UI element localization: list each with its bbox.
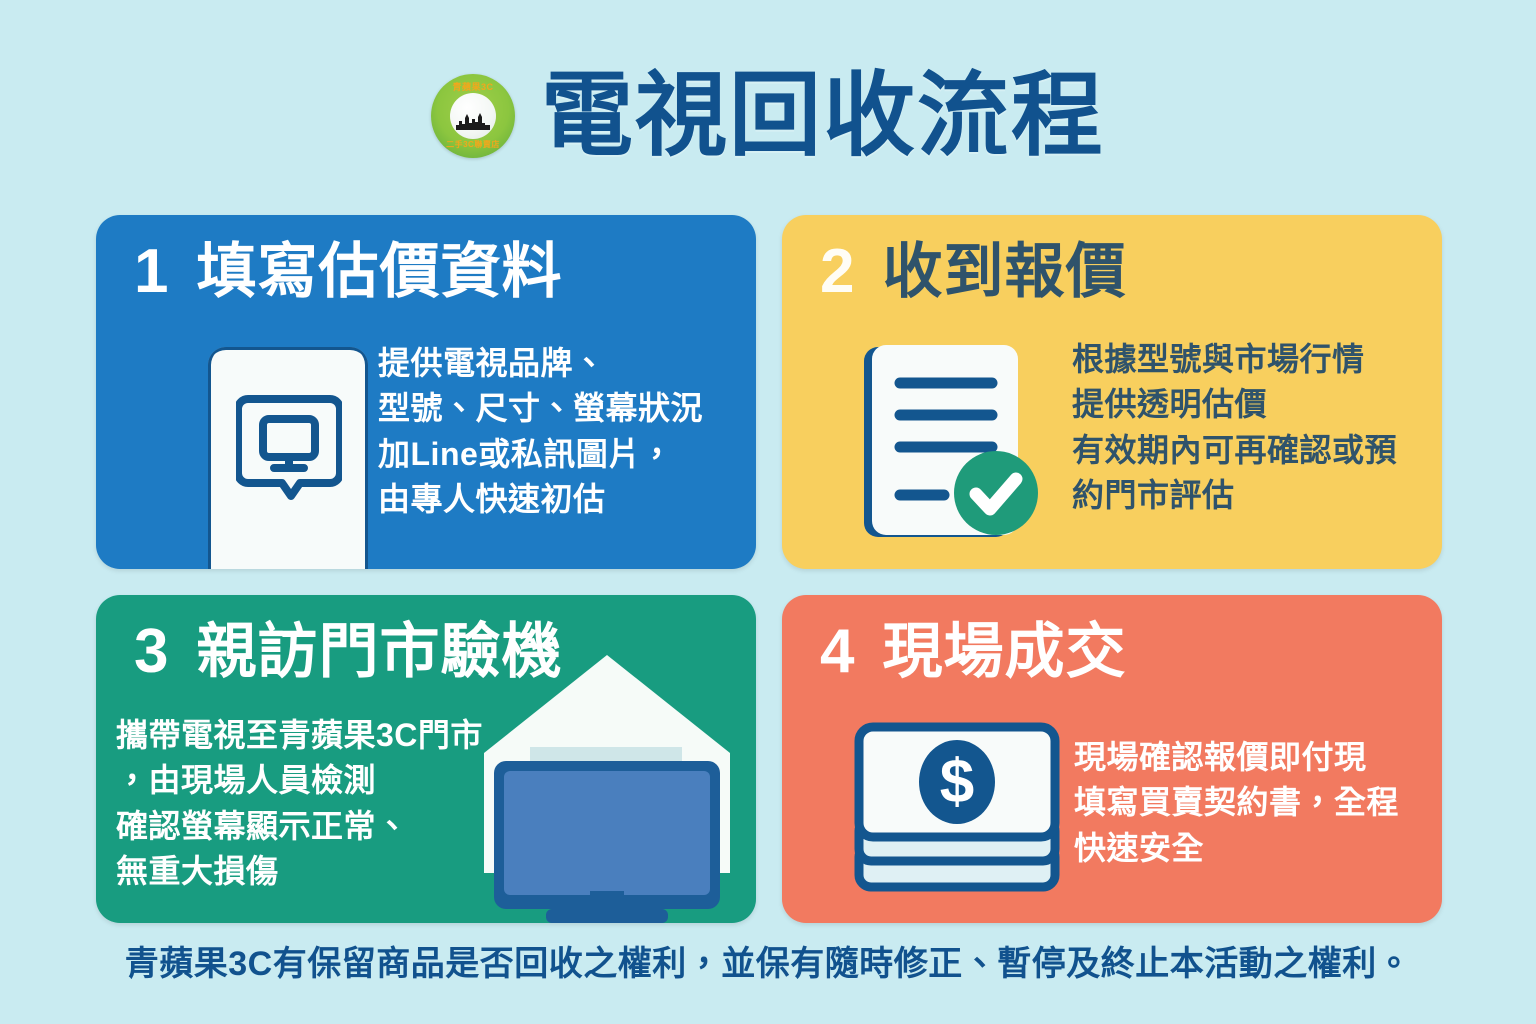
step-4-header: 4 現場成交 bbox=[820, 621, 1126, 683]
page-title: 電視回收流程 bbox=[541, 70, 1105, 162]
step-1-title: 填寫估價資料 bbox=[196, 242, 562, 302]
step-2-number: 2 bbox=[820, 241, 854, 303]
step-1-header: 1 填寫估價資料 bbox=[134, 241, 562, 303]
infographic-poster: 青蘋果3C 二手3C聯賣店 電視回收流程 1 填寫估價資料 bbox=[0, 0, 1536, 1024]
poster-header: 青蘋果3C 二手3C聯賣店 電視回收流程 bbox=[0, 52, 1536, 180]
steps-grid: 1 填寫估價資料 提供電視品牌、 型號、尺寸、螢幕狀況 加Line或私訊圖片， … bbox=[96, 215, 1442, 923]
document-check-glyph bbox=[862, 343, 1040, 543]
step-card-1: 1 填寫估價資料 提供電視品牌、 型號、尺寸、螢幕狀況 加Line或私訊圖片， … bbox=[96, 215, 756, 569]
step-3-title: 親訪門市驗機 bbox=[196, 622, 562, 682]
step-4-title: 現場成交 bbox=[882, 622, 1126, 682]
logo-globe-icon bbox=[450, 93, 496, 139]
step-2-header: 2 收到報價 bbox=[820, 241, 1126, 303]
cash-stack-glyph: $ bbox=[854, 721, 1060, 893]
step-1-body: 提供電視品牌、 型號、尺寸、螢幕狀況 加Line或私訊圖片， 由專人快速初估 bbox=[378, 341, 738, 523]
footer-disclaimer: 青蘋果3C有保留商品是否回收之權利，並保有隨時修正、暫停及終止本活動之權利。 bbox=[0, 944, 1536, 985]
step-card-3: 3 親訪門市驗機 攜帶電視至青蘋果3C門市 ，由現場人員檢測 確認螢幕顯示正常、… bbox=[96, 595, 756, 923]
cash-stack-dollar-icon: $ bbox=[854, 721, 1060, 893]
logo-ring-text-bottom: 二手3C聯賣店 bbox=[431, 141, 515, 149]
step-3-body: 攜帶電視至青蘋果3C門市 ，由現場人員檢測 確認螢幕顯示正常、 無重大損傷 bbox=[116, 713, 566, 895]
chat-bubble-tv-icon bbox=[208, 347, 368, 569]
logo-skyline-icon bbox=[456, 113, 490, 130]
step-card-4: 4 現場成交 $ 現場確認報價即付現 填寫買賣契約書，全程 快速安全 bbox=[782, 595, 1442, 923]
step-1-number: 1 bbox=[134, 241, 168, 303]
step-4-number: 4 bbox=[820, 621, 854, 683]
logo-ring-text-top: 青蘋果3C bbox=[431, 83, 515, 92]
chat-bubble-tv-glyph bbox=[236, 395, 342, 513]
step-card-2: 2 收到報價 根據型號與市場行情 提供透明估價 有效期 bbox=[782, 215, 1442, 569]
svg-text:$: $ bbox=[940, 748, 974, 817]
step-3-header: 3 親訪門市驗機 bbox=[134, 621, 562, 683]
step-2-body: 根據型號與市場行情 提供透明估價 有效期內可再確認或預 約門市評估 bbox=[1072, 337, 1440, 519]
step-3-number: 3 bbox=[134, 621, 168, 683]
document-check-icon bbox=[862, 343, 1040, 543]
step-2-title: 收到報價 bbox=[882, 242, 1126, 302]
step-4-body: 現場確認報價即付現 填寫買賣契約書，全程 快速安全 bbox=[1074, 735, 1434, 871]
qingpingguo-3c-logo: 青蘋果3C 二手3C聯賣店 bbox=[431, 74, 515, 158]
